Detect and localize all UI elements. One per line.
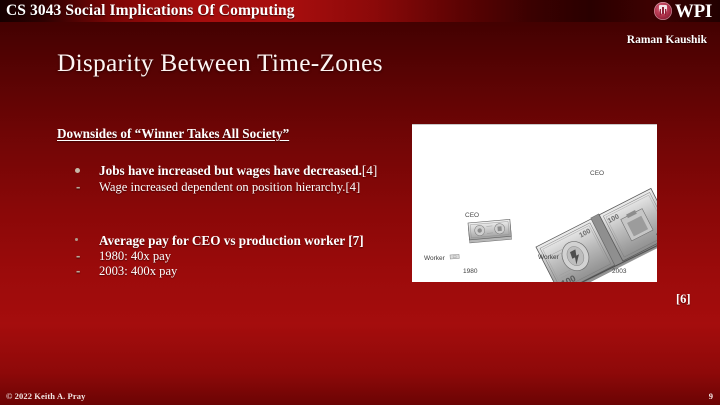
figure-graphic: CEO Worker 1980 <box>412 125 657 282</box>
wpi-logo-text: WPI <box>675 2 712 21</box>
section-heading: Downsides of “Winner Takes All Society” <box>57 126 397 142</box>
label-worker-1980: Worker <box>424 255 446 262</box>
list-item-label: Average pay for CEO vs production worker… <box>99 233 397 249</box>
bullet-dot-icon <box>75 233 105 249</box>
slide-canvas: CS 3043 Social Implications Of Computing… <box>0 0 720 405</box>
bullet-group-1: Jobs have increased but wages have decre… <box>57 163 397 195</box>
figure-citation: [6] <box>676 292 691 307</box>
author-name: Raman Kaushik <box>627 34 707 46</box>
ceo-bill-1980 <box>468 219 512 243</box>
reference-tag: [4] <box>362 163 377 178</box>
list-item-label: Wage increased dependent on position hie… <box>99 180 397 195</box>
label-year-2003: 2003 <box>612 268 627 275</box>
bullet-dot-icon <box>75 163 105 179</box>
list-item: - 2003: 400x pay <box>57 264 397 279</box>
list-item-label: 2003: 400x pay <box>99 264 397 279</box>
list-item: Jobs have increased but wages have decre… <box>57 163 397 179</box>
dash-marker-icon: - <box>76 179 106 194</box>
bullet-group-2: Average pay for CEO vs production worker… <box>57 233 397 280</box>
label-year-1980: 1980 <box>463 268 478 275</box>
footer-copyright: © 2022 Keith A. Pray <box>6 391 85 401</box>
slide-header-band: CS 3043 Social Implications Of Computing <box>0 0 720 22</box>
label-ceo-2003: CEO <box>590 170 604 177</box>
list-item-label: 1980: 40x pay <box>99 249 397 264</box>
list-item: - 1980: 40x pay <box>57 249 397 264</box>
slide-title: Disparity Between Time-Zones <box>57 48 383 78</box>
dash-marker-icon: - <box>76 248 106 263</box>
list-item-label: Jobs have increased but wages have decre… <box>99 163 397 179</box>
list-item: Average pay for CEO vs production worker… <box>57 233 397 249</box>
label-worker-2003: Worker <box>538 254 560 261</box>
wpi-logo: WPI <box>654 1 712 21</box>
course-title: CS 3043 Social Implications Of Computing <box>6 2 295 20</box>
list-item: - Wage increased dependent on position h… <box>57 180 397 195</box>
label-ceo-1980: CEO <box>465 212 479 219</box>
dash-marker-icon: - <box>76 263 106 278</box>
body-content: Downsides of “Winner Takes All Society” … <box>57 126 397 280</box>
worker-bill-1980 <box>450 254 459 259</box>
footer-page-number: 9 <box>709 391 713 401</box>
wpi-seal-icon <box>654 2 672 20</box>
ceo-vs-worker-pay-figure: CEO Worker 1980 <box>412 124 657 282</box>
